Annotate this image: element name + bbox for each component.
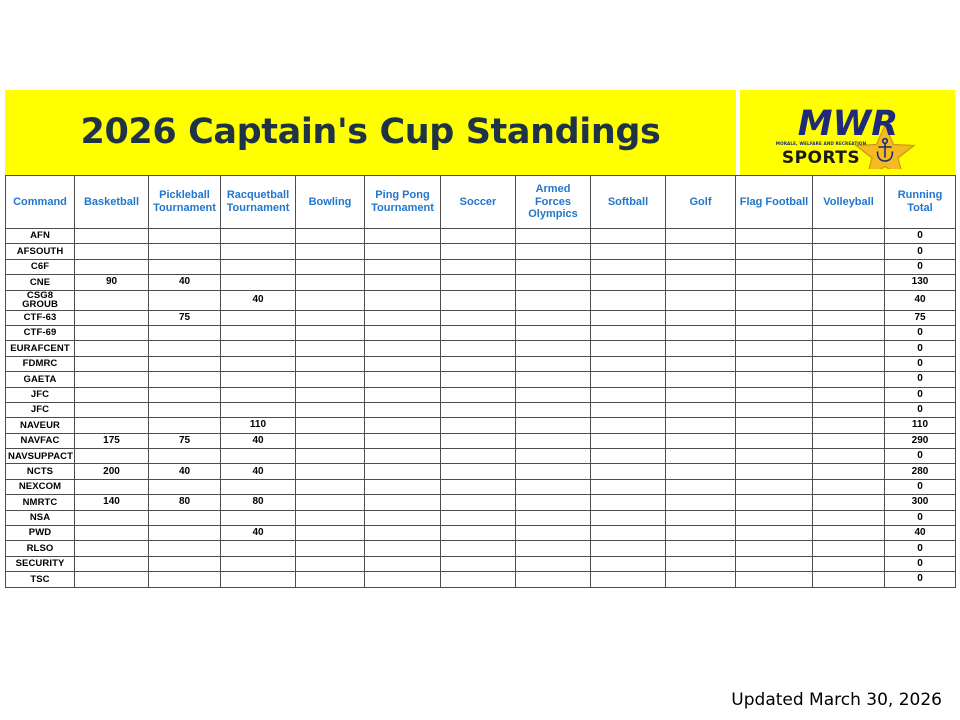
cell-armed_forces_olympics[interactable]	[516, 495, 591, 510]
cell-ping_pong[interactable]	[365, 290, 441, 310]
cell-pickleball[interactable]	[149, 510, 221, 525]
column-header-pickleball[interactable]: Pickleball Tournament	[149, 176, 221, 229]
cell-basketball[interactable]	[75, 541, 149, 556]
cell-soccer[interactable]	[441, 479, 516, 494]
cell-ping_pong[interactable]	[365, 244, 441, 259]
cell-golf[interactable]	[666, 526, 736, 541]
cell-basketball[interactable]	[75, 310, 149, 325]
cell-volleyball[interactable]	[813, 372, 885, 387]
column-header-ping-pong[interactable]: Ping Pong Tournament	[365, 176, 441, 229]
cell-golf[interactable]	[666, 259, 736, 274]
cell-pickleball[interactable]	[149, 259, 221, 274]
cell-armed_forces_olympics[interactable]	[516, 433, 591, 448]
cell-soccer[interactable]	[441, 259, 516, 274]
cell-basketball[interactable]	[75, 402, 149, 417]
cell-running_total[interactable]: 0	[885, 510, 956, 525]
cell-basketball[interactable]: 140	[75, 495, 149, 510]
cell-golf[interactable]	[666, 418, 736, 433]
cell-basketball[interactable]	[75, 449, 149, 464]
cell-pickleball[interactable]	[149, 449, 221, 464]
cell-basketball[interactable]	[75, 356, 149, 371]
cell-racquetball[interactable]	[221, 402, 296, 417]
cell-armed_forces_olympics[interactable]	[516, 275, 591, 290]
cell-soccer[interactable]	[441, 310, 516, 325]
cell-pickleball[interactable]	[149, 372, 221, 387]
cell-basketball[interactable]	[75, 290, 149, 310]
cell-armed_forces_olympics[interactable]	[516, 387, 591, 402]
row-command-label[interactable]: NMRTC	[6, 495, 75, 510]
row-command-label[interactable]: SECURITY	[6, 556, 75, 571]
cell-armed_forces_olympics[interactable]	[516, 526, 591, 541]
cell-ping_pong[interactable]	[365, 572, 441, 587]
cell-softball[interactable]	[591, 541, 666, 556]
cell-softball[interactable]	[591, 356, 666, 371]
cell-pickleball[interactable]	[149, 402, 221, 417]
cell-racquetball[interactable]	[221, 372, 296, 387]
cell-armed_forces_olympics[interactable]	[516, 449, 591, 464]
cell-ping_pong[interactable]	[365, 556, 441, 571]
cell-armed_forces_olympics[interactable]	[516, 341, 591, 356]
cell-bowling[interactable]	[296, 275, 365, 290]
column-header-volleyball[interactable]: Volleyball	[813, 176, 885, 229]
cell-golf[interactable]	[666, 464, 736, 479]
cell-basketball[interactable]	[75, 572, 149, 587]
cell-golf[interactable]	[666, 433, 736, 448]
cell-pickleball[interactable]	[149, 356, 221, 371]
cell-volleyball[interactable]	[813, 259, 885, 274]
cell-soccer[interactable]	[441, 572, 516, 587]
cell-pickleball[interactable]	[149, 325, 221, 340]
cell-pickleball[interactable]	[149, 541, 221, 556]
row-command-label[interactable]: FDMRC	[6, 356, 75, 371]
cell-armed_forces_olympics[interactable]	[516, 356, 591, 371]
cell-armed_forces_olympics[interactable]	[516, 572, 591, 587]
cell-bowling[interactable]	[296, 244, 365, 259]
cell-running_total[interactable]: 0	[885, 449, 956, 464]
cell-flag_football[interactable]	[736, 449, 813, 464]
cell-running_total[interactable]: 0	[885, 229, 956, 244]
cell-armed_forces_olympics[interactable]	[516, 229, 591, 244]
cell-racquetball[interactable]	[221, 275, 296, 290]
cell-pickleball[interactable]	[149, 556, 221, 571]
cell-golf[interactable]	[666, 479, 736, 494]
row-command-label[interactable]: CNE	[6, 275, 75, 290]
cell-armed_forces_olympics[interactable]	[516, 325, 591, 340]
cell-ping_pong[interactable]	[365, 449, 441, 464]
cell-golf[interactable]	[666, 229, 736, 244]
cell-volleyball[interactable]	[813, 402, 885, 417]
cell-running_total[interactable]: 0	[885, 572, 956, 587]
cell-ping_pong[interactable]	[365, 341, 441, 356]
cell-flag_football[interactable]	[736, 387, 813, 402]
cell-ping_pong[interactable]	[365, 356, 441, 371]
cell-bowling[interactable]	[296, 387, 365, 402]
cell-flag_football[interactable]	[736, 356, 813, 371]
column-header-softball[interactable]: Softball	[591, 176, 666, 229]
cell-soccer[interactable]	[441, 556, 516, 571]
cell-volleyball[interactable]	[813, 341, 885, 356]
cell-flag_football[interactable]	[736, 341, 813, 356]
cell-ping_pong[interactable]	[365, 495, 441, 510]
cell-bowling[interactable]	[296, 310, 365, 325]
cell-softball[interactable]	[591, 526, 666, 541]
cell-golf[interactable]	[666, 510, 736, 525]
cell-softball[interactable]	[591, 229, 666, 244]
cell-volleyball[interactable]	[813, 479, 885, 494]
cell-flag_football[interactable]	[736, 433, 813, 448]
cell-basketball[interactable]	[75, 244, 149, 259]
row-command-label[interactable]: NAVFAC	[6, 433, 75, 448]
cell-basketball[interactable]	[75, 556, 149, 571]
cell-soccer[interactable]	[441, 526, 516, 541]
cell-armed_forces_olympics[interactable]	[516, 372, 591, 387]
cell-racquetball[interactable]	[221, 310, 296, 325]
cell-running_total[interactable]: 300	[885, 495, 956, 510]
cell-volleyball[interactable]	[813, 495, 885, 510]
column-header-bowling[interactable]: Bowling	[296, 176, 365, 229]
cell-flag_football[interactable]	[736, 402, 813, 417]
cell-ping_pong[interactable]	[365, 275, 441, 290]
cell-basketball[interactable]: 90	[75, 275, 149, 290]
cell-pickleball[interactable]	[149, 244, 221, 259]
cell-volleyball[interactable]	[813, 290, 885, 310]
cell-softball[interactable]	[591, 433, 666, 448]
cell-running_total[interactable]: 0	[885, 402, 956, 417]
cell-golf[interactable]	[666, 290, 736, 310]
cell-pickleball[interactable]: 40	[149, 275, 221, 290]
cell-soccer[interactable]	[441, 464, 516, 479]
cell-pickleball[interactable]: 80	[149, 495, 221, 510]
cell-golf[interactable]	[666, 572, 736, 587]
cell-soccer[interactable]	[441, 229, 516, 244]
cell-ping_pong[interactable]	[365, 229, 441, 244]
cell-golf[interactable]	[666, 402, 736, 417]
cell-softball[interactable]	[591, 325, 666, 340]
cell-softball[interactable]	[591, 372, 666, 387]
cell-pickleball[interactable]	[149, 572, 221, 587]
cell-ping_pong[interactable]	[365, 402, 441, 417]
cell-soccer[interactable]	[441, 244, 516, 259]
column-header-flag-football[interactable]: Flag Football	[736, 176, 813, 229]
column-header-golf[interactable]: Golf	[666, 176, 736, 229]
row-command-label[interactable]: RLSO	[6, 541, 75, 556]
column-header-basketball[interactable]: Basketball	[75, 176, 149, 229]
cell-flag_football[interactable]	[736, 229, 813, 244]
cell-racquetball[interactable]: 40	[221, 464, 296, 479]
cell-softball[interactable]	[591, 556, 666, 571]
cell-armed_forces_olympics[interactable]	[516, 310, 591, 325]
cell-bowling[interactable]	[296, 541, 365, 556]
cell-soccer[interactable]	[441, 275, 516, 290]
cell-ping_pong[interactable]	[365, 510, 441, 525]
cell-basketball[interactable]: 175	[75, 433, 149, 448]
cell-flag_football[interactable]	[736, 541, 813, 556]
cell-flag_football[interactable]	[736, 259, 813, 274]
cell-bowling[interactable]	[296, 229, 365, 244]
cell-racquetball[interactable]	[221, 356, 296, 371]
cell-running_total[interactable]: 0	[885, 556, 956, 571]
column-header-racquetball[interactable]: Racquetball Tournament	[221, 176, 296, 229]
column-header-running-total[interactable]: Running Total	[885, 176, 956, 229]
cell-bowling[interactable]	[296, 259, 365, 274]
cell-bowling[interactable]	[296, 464, 365, 479]
cell-bowling[interactable]	[296, 556, 365, 571]
cell-running_total[interactable]: 130	[885, 275, 956, 290]
cell-volleyball[interactable]	[813, 310, 885, 325]
cell-softball[interactable]	[591, 510, 666, 525]
row-command-label[interactable]: AFN	[6, 229, 75, 244]
cell-softball[interactable]	[591, 259, 666, 274]
cell-running_total[interactable]: 0	[885, 541, 956, 556]
row-command-label[interactable]: CSG8 GROUB	[6, 290, 75, 310]
cell-pickleball[interactable]	[149, 341, 221, 356]
cell-pickleball[interactable]: 75	[149, 310, 221, 325]
cell-softball[interactable]	[591, 290, 666, 310]
row-command-label[interactable]: JFC	[6, 387, 75, 402]
cell-flag_football[interactable]	[736, 464, 813, 479]
column-header-armed-forces-olympics[interactable]: Armed Forces Olympics	[516, 176, 591, 229]
cell-racquetball[interactable]	[221, 341, 296, 356]
cell-soccer[interactable]	[441, 387, 516, 402]
cell-soccer[interactable]	[441, 541, 516, 556]
cell-armed_forces_olympics[interactable]	[516, 244, 591, 259]
row-command-label[interactable]: GAETA	[6, 372, 75, 387]
cell-flag_football[interactable]	[736, 310, 813, 325]
cell-running_total[interactable]: 75	[885, 310, 956, 325]
cell-bowling[interactable]	[296, 510, 365, 525]
cell-softball[interactable]	[591, 310, 666, 325]
cell-golf[interactable]	[666, 556, 736, 571]
cell-soccer[interactable]	[441, 290, 516, 310]
column-header-command[interactable]: Command	[6, 176, 75, 229]
column-header-soccer[interactable]: Soccer	[441, 176, 516, 229]
row-command-label[interactable]: NAVEUR	[6, 418, 75, 433]
cell-softball[interactable]	[591, 495, 666, 510]
cell-racquetball[interactable]: 40	[221, 526, 296, 541]
cell-running_total[interactable]: 40	[885, 290, 956, 310]
cell-golf[interactable]	[666, 356, 736, 371]
cell-running_total[interactable]: 0	[885, 479, 956, 494]
cell-running_total[interactable]: 0	[885, 356, 956, 371]
cell-ping_pong[interactable]	[365, 325, 441, 340]
cell-softball[interactable]	[591, 479, 666, 494]
cell-pickleball[interactable]: 40	[149, 464, 221, 479]
cell-bowling[interactable]	[296, 356, 365, 371]
cell-softball[interactable]	[591, 418, 666, 433]
cell-softball[interactable]	[591, 244, 666, 259]
cell-running_total[interactable]: 0	[885, 325, 956, 340]
cell-armed_forces_olympics[interactable]	[516, 418, 591, 433]
cell-volleyball[interactable]	[813, 556, 885, 571]
cell-volleyball[interactable]	[813, 433, 885, 448]
row-command-label[interactable]: JFC	[6, 402, 75, 417]
cell-volleyball[interactable]	[813, 387, 885, 402]
cell-flag_football[interactable]	[736, 372, 813, 387]
cell-racquetball[interactable]	[221, 387, 296, 402]
cell-flag_football[interactable]	[736, 325, 813, 340]
cell-volleyball[interactable]	[813, 244, 885, 259]
row-command-label[interactable]: NAVSUPPACT	[6, 449, 75, 464]
cell-running_total[interactable]: 0	[885, 387, 956, 402]
cell-soccer[interactable]	[441, 418, 516, 433]
cell-bowling[interactable]	[296, 325, 365, 340]
cell-flag_football[interactable]	[736, 275, 813, 290]
row-command-label[interactable]: EURAFCENT	[6, 341, 75, 356]
cell-volleyball[interactable]	[813, 275, 885, 290]
cell-armed_forces_olympics[interactable]	[516, 479, 591, 494]
cell-racquetball[interactable]	[221, 556, 296, 571]
cell-racquetball[interactable]	[221, 449, 296, 464]
cell-running_total[interactable]: 110	[885, 418, 956, 433]
cell-running_total[interactable]: 40	[885, 526, 956, 541]
cell-pickleball[interactable]	[149, 479, 221, 494]
cell-softball[interactable]	[591, 464, 666, 479]
row-command-label[interactable]: NEXCOM	[6, 479, 75, 494]
cell-flag_football[interactable]	[736, 290, 813, 310]
cell-bowling[interactable]	[296, 479, 365, 494]
cell-basketball[interactable]	[75, 479, 149, 494]
cell-armed_forces_olympics[interactable]	[516, 510, 591, 525]
row-command-label[interactable]: C6F	[6, 259, 75, 274]
cell-softball[interactable]	[591, 275, 666, 290]
cell-basketball[interactable]	[75, 510, 149, 525]
row-command-label[interactable]: CTF-63	[6, 310, 75, 325]
cell-flag_football[interactable]	[736, 526, 813, 541]
cell-racquetball[interactable]: 40	[221, 290, 296, 310]
cell-softball[interactable]	[591, 572, 666, 587]
cell-soccer[interactable]	[441, 433, 516, 448]
cell-basketball[interactable]	[75, 418, 149, 433]
cell-racquetball[interactable]	[221, 479, 296, 494]
cell-ping_pong[interactable]	[365, 479, 441, 494]
cell-bowling[interactable]	[296, 449, 365, 464]
cell-golf[interactable]	[666, 541, 736, 556]
row-command-label[interactable]: AFSOUTH	[6, 244, 75, 259]
cell-volleyball[interactable]	[813, 325, 885, 340]
cell-racquetball[interactable]: 80	[221, 495, 296, 510]
cell-bowling[interactable]	[296, 372, 365, 387]
cell-golf[interactable]	[666, 310, 736, 325]
cell-flag_football[interactable]	[736, 418, 813, 433]
cell-ping_pong[interactable]	[365, 372, 441, 387]
cell-racquetball[interactable]	[221, 259, 296, 274]
cell-golf[interactable]	[666, 341, 736, 356]
cell-basketball[interactable]	[75, 325, 149, 340]
row-command-label[interactable]: PWD	[6, 526, 75, 541]
cell-armed_forces_olympics[interactable]	[516, 556, 591, 571]
cell-pickleball[interactable]	[149, 418, 221, 433]
cell-pickleball[interactable]	[149, 290, 221, 310]
cell-golf[interactable]	[666, 387, 736, 402]
row-command-label[interactable]: TSC	[6, 572, 75, 587]
cell-armed_forces_olympics[interactable]	[516, 402, 591, 417]
cell-golf[interactable]	[666, 325, 736, 340]
cell-bowling[interactable]	[296, 572, 365, 587]
cell-soccer[interactable]	[441, 325, 516, 340]
cell-ping_pong[interactable]	[365, 464, 441, 479]
cell-pickleball[interactable]	[149, 526, 221, 541]
cell-armed_forces_olympics[interactable]	[516, 290, 591, 310]
cell-bowling[interactable]	[296, 341, 365, 356]
cell-golf[interactable]	[666, 495, 736, 510]
cell-volleyball[interactable]	[813, 510, 885, 525]
cell-running_total[interactable]: 0	[885, 372, 956, 387]
cell-bowling[interactable]	[296, 402, 365, 417]
cell-bowling[interactable]	[296, 495, 365, 510]
cell-flag_football[interactable]	[736, 244, 813, 259]
cell-soccer[interactable]	[441, 495, 516, 510]
cell-racquetball[interactable]	[221, 325, 296, 340]
cell-bowling[interactable]	[296, 433, 365, 448]
cell-golf[interactable]	[666, 449, 736, 464]
cell-ping_pong[interactable]	[365, 526, 441, 541]
cell-basketball[interactable]	[75, 387, 149, 402]
cell-flag_football[interactable]	[736, 556, 813, 571]
cell-running_total[interactable]: 0	[885, 341, 956, 356]
cell-volleyball[interactable]	[813, 541, 885, 556]
cell-volleyball[interactable]	[813, 464, 885, 479]
cell-running_total[interactable]: 280	[885, 464, 956, 479]
row-command-label[interactable]: NSA	[6, 510, 75, 525]
cell-volleyball[interactable]	[813, 229, 885, 244]
cell-racquetball[interactable]	[221, 541, 296, 556]
cell-ping_pong[interactable]	[365, 433, 441, 448]
cell-bowling[interactable]	[296, 526, 365, 541]
cell-racquetball[interactable]	[221, 572, 296, 587]
cell-soccer[interactable]	[441, 341, 516, 356]
cell-racquetball[interactable]	[221, 229, 296, 244]
cell-armed_forces_olympics[interactable]	[516, 259, 591, 274]
cell-basketball[interactable]	[75, 526, 149, 541]
cell-flag_football[interactable]	[736, 572, 813, 587]
cell-ping_pong[interactable]	[365, 259, 441, 274]
cell-running_total[interactable]: 0	[885, 244, 956, 259]
cell-pickleball[interactable]	[149, 387, 221, 402]
cell-volleyball[interactable]	[813, 449, 885, 464]
cell-racquetball[interactable]: 110	[221, 418, 296, 433]
cell-basketball[interactable]	[75, 259, 149, 274]
cell-golf[interactable]	[666, 244, 736, 259]
cell-softball[interactable]	[591, 341, 666, 356]
cell-racquetball[interactable]	[221, 244, 296, 259]
cell-softball[interactable]	[591, 402, 666, 417]
cell-racquetball[interactable]	[221, 510, 296, 525]
cell-golf[interactable]	[666, 372, 736, 387]
cell-flag_football[interactable]	[736, 495, 813, 510]
cell-running_total[interactable]: 0	[885, 259, 956, 274]
cell-soccer[interactable]	[441, 510, 516, 525]
cell-ping_pong[interactable]	[365, 387, 441, 402]
cell-soccer[interactable]	[441, 402, 516, 417]
cell-armed_forces_olympics[interactable]	[516, 541, 591, 556]
cell-bowling[interactable]	[296, 418, 365, 433]
cell-volleyball[interactable]	[813, 572, 885, 587]
cell-volleyball[interactable]	[813, 356, 885, 371]
cell-soccer[interactable]	[441, 449, 516, 464]
cell-basketball[interactable]	[75, 341, 149, 356]
cell-flag_football[interactable]	[736, 479, 813, 494]
cell-softball[interactable]	[591, 387, 666, 402]
cell-basketball[interactable]: 200	[75, 464, 149, 479]
row-command-label[interactable]: NCTS	[6, 464, 75, 479]
cell-soccer[interactable]	[441, 356, 516, 371]
cell-golf[interactable]	[666, 275, 736, 290]
row-command-label[interactable]: CTF-69	[6, 325, 75, 340]
cell-ping_pong[interactable]	[365, 310, 441, 325]
cell-armed_forces_olympics[interactable]	[516, 464, 591, 479]
cell-softball[interactable]	[591, 449, 666, 464]
cell-pickleball[interactable]: 75	[149, 433, 221, 448]
